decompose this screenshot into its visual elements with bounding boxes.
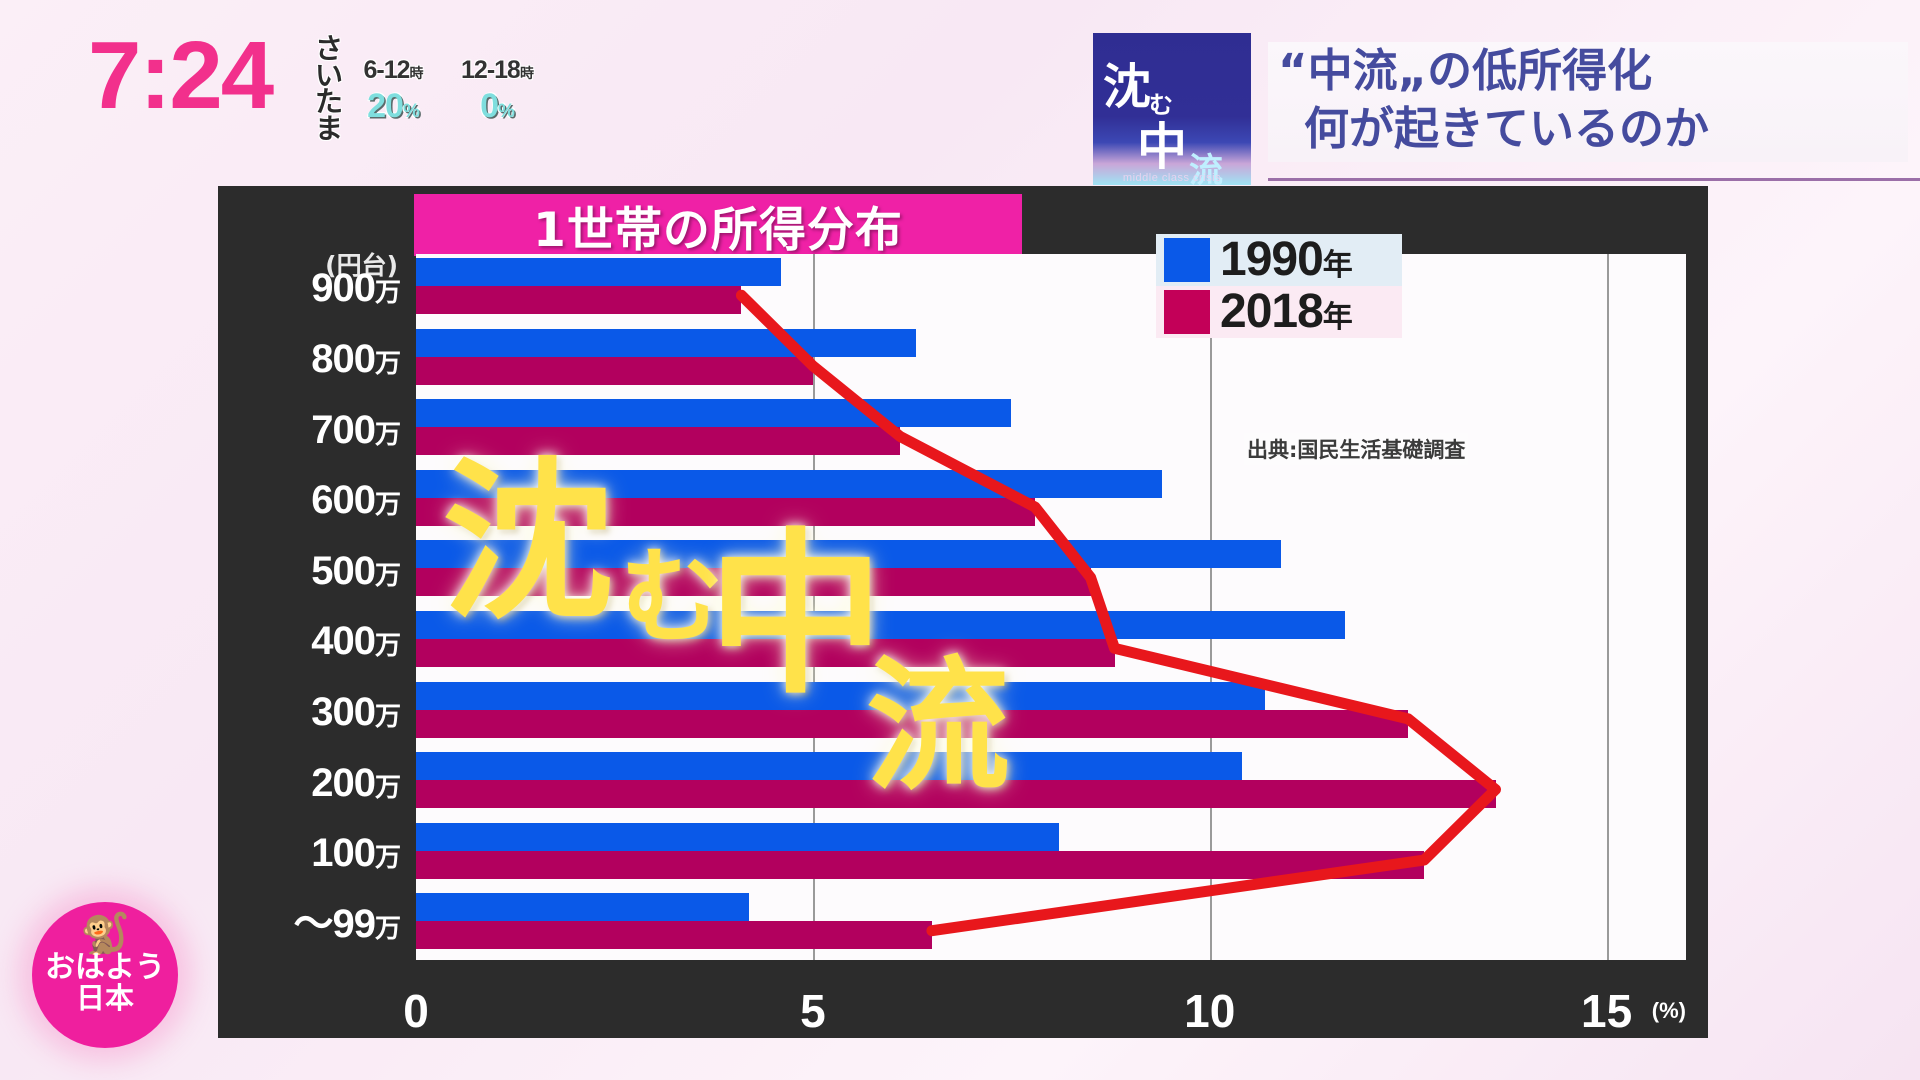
bar-1990 (416, 258, 781, 286)
y-axis-label: 700万 (218, 410, 414, 450)
chart-legend: 1990年 2018年 (1156, 234, 1402, 338)
x-axis-tick: 10 (1184, 988, 1235, 1034)
program-logo-char-3: 中 (1137, 107, 1187, 179)
weather-morning-range-unit: 時 (410, 65, 423, 81)
station-logo-line-1: おはよう (32, 952, 178, 984)
legend-label-2018: 2018年 (1220, 288, 1352, 336)
weather-slot-afternoon-time: 12-18時 (452, 56, 542, 85)
y-axis-label: 500万 (218, 551, 414, 591)
bar-1990 (416, 893, 749, 921)
y-axis-label: 200万 (218, 763, 414, 803)
headline-line-2: 何が起きているのか (1278, 100, 1908, 158)
x-axis-tick: 5 (800, 988, 826, 1034)
legend-label-1990: 1990年 (1220, 236, 1352, 284)
y-axis-label: 100万 (218, 833, 414, 873)
weather-slot-morning-time: 6-12時 (348, 56, 438, 85)
bar-2018 (416, 498, 1035, 526)
headline-line-1: “中流„の低所得化 (1278, 42, 1908, 100)
program-segment-logo: 沈 む 中 流 middle class crisis (1093, 33, 1251, 185)
weather-slot-afternoon: 12-18時 0% (452, 56, 542, 126)
y-axis-label: 900万 (218, 268, 414, 308)
weather-morning-pop-unit: % (403, 101, 419, 122)
legend-label-1990-suffix: 年 (1323, 249, 1352, 282)
weather-slot-afternoon-pop: 0% (452, 87, 542, 126)
bar-2018 (416, 286, 741, 314)
weather-afternoon-pop-unit: % (498, 101, 514, 122)
bar-1990 (416, 823, 1059, 851)
region-char-1: い (310, 63, 348, 90)
legend-label-1990-text: 1990 (1220, 233, 1323, 286)
station-logo-line-2: 日本 (32, 984, 178, 1014)
y-axis-label: 300万 (218, 692, 414, 732)
bar-2018 (416, 780, 1496, 808)
broadcast-clock: 7:24 (88, 28, 272, 124)
chart-source-note: 出典:国民生活基礎調査 (1244, 433, 1468, 465)
bar-1990 (416, 682, 1265, 710)
rooster-icon: 🐒 (32, 914, 178, 954)
legend-swatch-1990 (1164, 238, 1210, 282)
region-char-3: ま (310, 116, 348, 143)
bar-2018 (416, 710, 1408, 738)
weather-morning-pop-value: 20 (367, 87, 403, 125)
legend-item-2018: 2018年 (1156, 286, 1402, 338)
weather-afternoon-pop-value: 0 (480, 87, 498, 125)
station-logo: 🐒 おはよう 日本 (32, 902, 178, 1048)
bar-1990 (416, 329, 916, 357)
bar-1990 (416, 399, 1011, 427)
weather-afternoon-range: 12-18 (461, 56, 520, 84)
program-logo-romaji: middle class crisis (1093, 172, 1251, 184)
gridline (1607, 254, 1609, 960)
bar-1990 (416, 611, 1345, 639)
y-axis-label: ～99万 (218, 904, 414, 944)
bar-2018 (416, 427, 900, 455)
weather-slot-morning-pop: 20% (348, 87, 438, 126)
bar-1990 (416, 470, 1162, 498)
legend-swatch-2018 (1164, 290, 1210, 334)
x-axis-tick: 0 (403, 988, 429, 1034)
region-char-0: さ (310, 36, 348, 63)
y-axis-label: 400万 (218, 621, 414, 661)
legend-label-2018-suffix: 年 (1323, 301, 1352, 334)
plot-area (416, 254, 1686, 960)
headline: “中流„の低所得化 何が起きているのか (1268, 42, 1908, 162)
bar-1990 (416, 540, 1281, 568)
bar-2018 (416, 357, 813, 385)
legend-label-2018-text: 2018 (1220, 285, 1323, 338)
bar-2018 (416, 921, 932, 949)
weather-slot-morning: 6-12時 20% (348, 56, 438, 126)
weather-afternoon-range-unit: 時 (520, 65, 533, 81)
weather-morning-range: 6-12 (363, 56, 409, 84)
bar-2018 (416, 568, 1091, 596)
weather-region-label: さ い た ま (310, 36, 348, 142)
headline-divider (1268, 178, 1920, 181)
x-axis-tick: 15 (1581, 988, 1632, 1034)
chart-title: 1世帯の所得分布 (414, 194, 1022, 256)
x-axis-unit-label: (%) (1652, 998, 1686, 1024)
y-axis-label: 800万 (218, 339, 414, 379)
y-axis-label: 600万 (218, 480, 414, 520)
bar-1990 (416, 752, 1242, 780)
bar-2018 (416, 639, 1115, 667)
legend-item-1990: 1990年 (1156, 234, 1402, 286)
chart-panel: 1世帯の所得分布 (円台) 900万800万700万600万500万400万30… (218, 186, 1708, 1038)
bar-2018 (416, 851, 1424, 879)
region-char-2: た (310, 89, 348, 116)
